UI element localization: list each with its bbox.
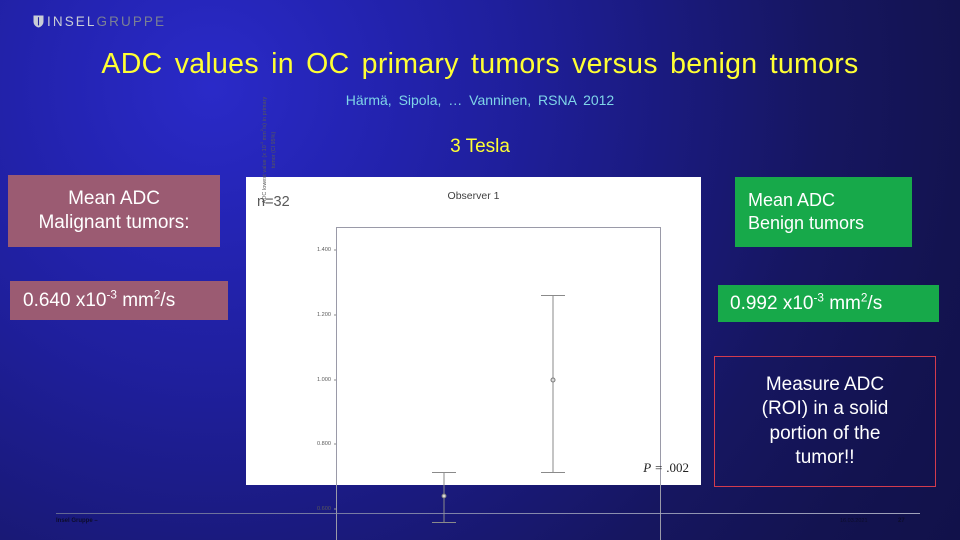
chart-ytick-mark: [334, 249, 337, 250]
malignant-value-box: 0.640 x10-3 mm2/s: [10, 281, 228, 320]
inselgruppe-logo: INSELGRUPPE: [33, 15, 166, 29]
chart-ytick-mark: [334, 509, 337, 510]
chart-ytick-label: 1.000: [317, 377, 331, 383]
benign-label-box: Mean ADC Benign tumors: [735, 177, 912, 247]
shield-icon: [33, 15, 44, 28]
field-strength-label: 3 Tesla: [0, 136, 960, 158]
chart-ytick-label: 1.400: [317, 247, 331, 253]
benign-value-box: 0.992 x10-3 mm2/s: [718, 285, 939, 322]
chart-ytick-label: 0.600: [317, 506, 331, 512]
callout-line3: portion of the: [762, 422, 889, 446]
callout-line4: tumor!!: [762, 446, 889, 470]
measure-roi-callout: Measure ADC (ROI) in a solid portion of …: [714, 356, 936, 487]
benign-label-line1: Mean ADC: [748, 189, 835, 212]
benign-label-line2: Benign tumors: [748, 212, 864, 235]
chart-plot-area: 0.4000.6000.8001.0001.2001.400 Malignant…: [336, 227, 661, 540]
malignant-label-line1: Mean ADC: [68, 187, 160, 211]
chart-ytick-mark: [334, 444, 337, 445]
footer-page-number: 27: [898, 518, 905, 524]
chart-title: Observer 1: [246, 190, 701, 202]
callout-line1: Measure ADC: [762, 373, 889, 397]
chart-p-value: P = .002: [643, 460, 689, 476]
malignant-label-line2: Malignant tumors:: [38, 211, 189, 235]
benign-value-text: 0.992 x10-3 mm2/s: [730, 293, 882, 315]
chart-ylabel-line1: ADC lowest value (x 10-3 mm2/s) in prima…: [262, 65, 268, 235]
chart-ytick-label: 1.200: [317, 312, 331, 318]
citation-subtitle: Härmä, Sipola, … Vanninen, RSNA 2012: [0, 92, 960, 108]
footer-divider: [56, 513, 920, 514]
malignant-label-box: Mean ADC Malignant tumors:: [8, 175, 220, 247]
footer-date: 16.03.2021: [840, 518, 868, 524]
chart-ytick-label: 0.800: [317, 441, 331, 447]
callout-line2: (ROI) in a solid: [762, 397, 889, 421]
chart-ytick-mark: [334, 379, 337, 380]
footer-organization: Insel Gruppe –: [56, 518, 98, 524]
chart-ylabel-line2: tumor (CI 95%): [271, 65, 277, 235]
chart-frame: [336, 227, 661, 540]
logo-word-gruppe: GRUPPE: [97, 14, 167, 29]
chart-panel: n=32 Observer 1 ADC lowest value (x 10-3…: [246, 177, 701, 485]
slide-canvas: INSELGRUPPE ADC values in OC primary tum…: [0, 0, 960, 540]
chart-ytick-mark: [334, 314, 337, 315]
page-title: ADC values in OC primary tumors versus b…: [0, 48, 960, 81]
malignant-value-text: 0.640 x10-3 mm2/s: [23, 290, 175, 312]
logo-word-insel: INSEL: [47, 14, 97, 29]
